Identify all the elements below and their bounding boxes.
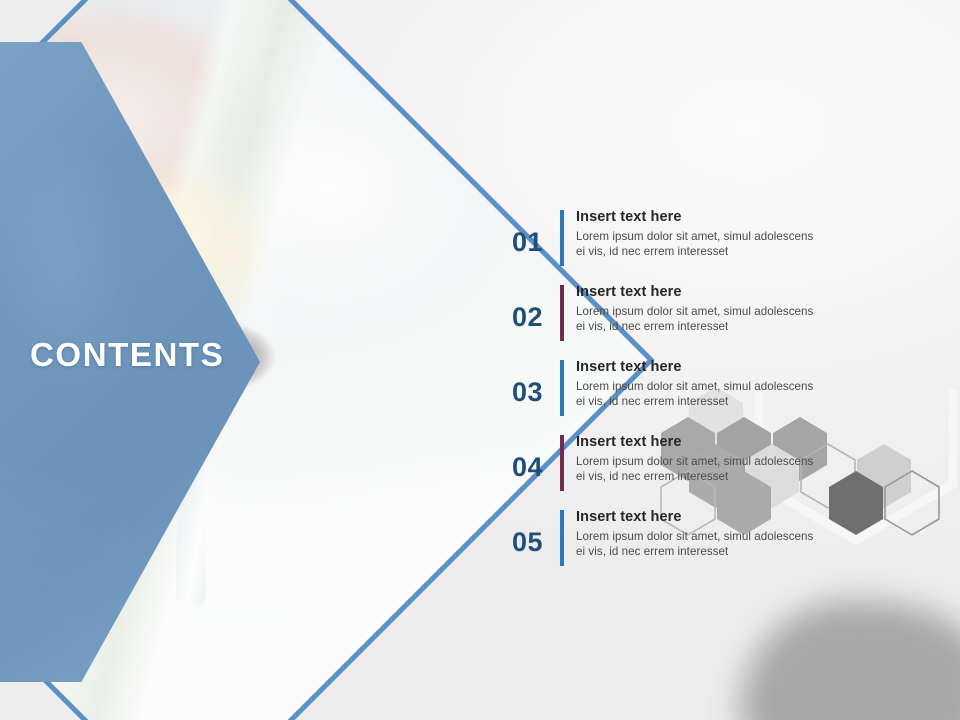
item-number: 01	[512, 208, 560, 256]
item-body-line-1: Lorem ipsum dolor sit amet, simul adoles…	[576, 529, 912, 544]
item-accent-bar	[560, 510, 564, 566]
item-heading: Insert text here	[576, 433, 912, 451]
list-item[interactable]: 01 Insert text here Lorem ipsum dolor si…	[512, 208, 912, 283]
item-body-line-1: Lorem ipsum dolor sit amet, simul adoles…	[576, 304, 912, 319]
item-text-block: Insert text here Lorem ipsum dolor sit a…	[576, 358, 912, 410]
item-heading: Insert text here	[576, 283, 912, 301]
item-accent-bar	[560, 210, 564, 266]
item-text-block: Insert text here Lorem ipsum dolor sit a…	[576, 283, 912, 335]
item-accent-bar	[560, 435, 564, 491]
item-accent-bar	[560, 285, 564, 341]
item-body-line-2: ei vis, id nec errem interesset	[576, 544, 912, 559]
item-number: 04	[512, 433, 560, 481]
item-accent-bar	[560, 360, 564, 416]
item-number: 03	[512, 358, 560, 406]
item-heading: Insert text here	[576, 508, 912, 526]
item-body-line-2: ei vis, id nec errem interesset	[576, 244, 912, 259]
list-item[interactable]: 05 Insert text here Lorem ipsum dolor si…	[512, 508, 912, 583]
contents-list: 01 Insert text here Lorem ipsum dolor si…	[512, 208, 912, 583]
slide-canvas: CONTENTS 01 Insert text here Lorem ipsum…	[0, 0, 960, 720]
item-body-line-1: Lorem ipsum dolor sit amet, simul adoles…	[576, 229, 912, 244]
item-body-line-2: ei vis, id nec errem interesset	[576, 394, 912, 409]
item-body-line-1: Lorem ipsum dolor sit amet, simul adoles…	[576, 379, 912, 394]
item-number: 05	[512, 508, 560, 556]
item-heading: Insert text here	[576, 358, 912, 376]
item-text-block: Insert text here Lorem ipsum dolor sit a…	[576, 208, 912, 260]
list-item[interactable]: 04 Insert text here Lorem ipsum dolor si…	[512, 433, 912, 508]
item-text-block: Insert text here Lorem ipsum dolor sit a…	[576, 433, 912, 485]
item-heading: Insert text here	[576, 208, 912, 226]
item-text-block: Insert text here Lorem ipsum dolor sit a…	[576, 508, 912, 560]
item-body-line-2: ei vis, id nec errem interesset	[576, 319, 912, 334]
list-item[interactable]: 03 Insert text here Lorem ipsum dolor si…	[512, 358, 912, 433]
item-body-line-2: ei vis, id nec errem interesset	[576, 469, 912, 484]
list-item[interactable]: 02 Insert text here Lorem ipsum dolor si…	[512, 283, 912, 358]
item-number: 02	[512, 283, 560, 331]
item-body-line-1: Lorem ipsum dolor sit amet, simul adoles…	[576, 454, 912, 469]
page-title: CONTENTS	[30, 336, 224, 374]
